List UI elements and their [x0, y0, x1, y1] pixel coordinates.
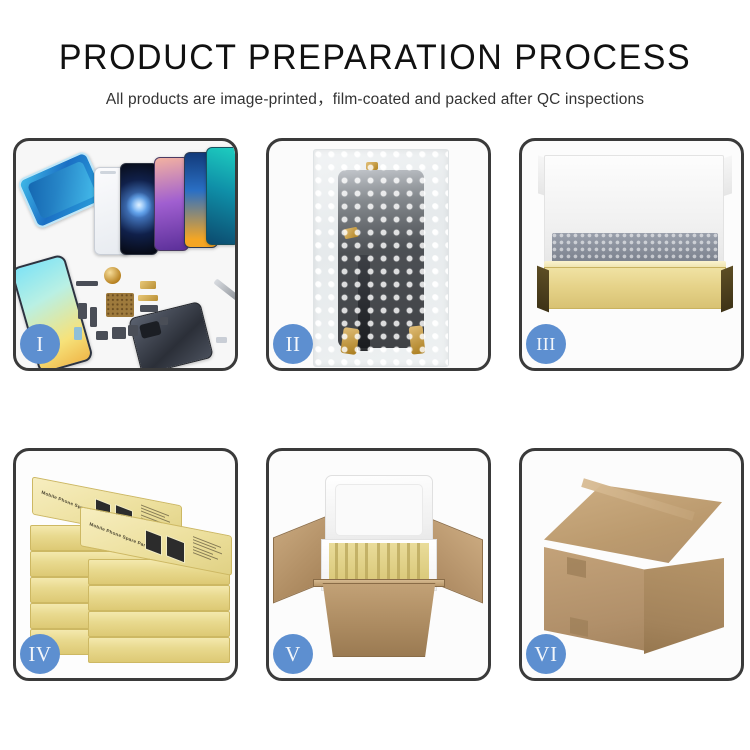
- header: PRODUCT PREPARATION PROCESS All products…: [0, 0, 750, 109]
- page-title: PRODUCT PREPARATION PROCESS: [11, 38, 739, 78]
- yellow-box-tray: [544, 267, 726, 309]
- bubble-texture: [314, 150, 448, 366]
- carton-front-face: [544, 547, 646, 651]
- vibrator-motor-part: [104, 267, 121, 284]
- small-part: [112, 327, 126, 339]
- box-label-text: Mobile Phone Spare Parts: [89, 521, 150, 549]
- box-spec-lines: [193, 536, 225, 568]
- small-part: [90, 307, 97, 327]
- small-part: [74, 327, 82, 340]
- small-part: [76, 281, 98, 286]
- box-window: [145, 529, 162, 556]
- stacked-box: [88, 585, 230, 611]
- page-subtitle: All products are image-printed，film-coat…: [0, 87, 750, 109]
- phone-display-4: [206, 147, 235, 245]
- step-badge-1: I: [20, 324, 60, 364]
- screwdriver-tool: [213, 278, 235, 301]
- connector-pad-part: [106, 293, 134, 317]
- step-badge-6: VI: [526, 634, 566, 674]
- step-panel-4: Mobile Phone Spare Parts Mobile Phone Sp…: [13, 448, 238, 681]
- box-window: [166, 535, 185, 563]
- flex-cable-part: [140, 281, 156, 289]
- carton-side-face: [644, 558, 724, 654]
- stacked-box: [88, 637, 230, 663]
- product-preparation-infographic: PRODUCT PREPARATION PROCESS All products…: [0, 0, 750, 750]
- step-badge-5: V: [273, 634, 313, 674]
- small-part: [96, 331, 108, 340]
- step-badge-2: II: [273, 324, 313, 364]
- process-steps-grid: I II: [13, 138, 745, 681]
- flex-cable-part: [138, 295, 158, 301]
- bubble-wrap-bag: [313, 149, 449, 367]
- step-panel-1: I: [13, 138, 238, 371]
- small-part: [160, 317, 168, 325]
- phone-display-1: [120, 163, 158, 255]
- step-panel-3: III: [519, 138, 744, 371]
- step-panel-5: V: [266, 448, 491, 681]
- screw-part: [216, 337, 227, 343]
- step-badge-4: IV: [20, 634, 60, 674]
- step-badge-3: III: [526, 324, 566, 364]
- small-part: [128, 325, 138, 336]
- step-panel-2: II: [266, 138, 491, 371]
- foam-insert-lid: [325, 475, 433, 547]
- step-panel-6: VI: [519, 448, 744, 681]
- stacked-box: [88, 611, 230, 637]
- small-part: [140, 305, 158, 312]
- small-part: [78, 303, 87, 319]
- carton-body: [315, 583, 443, 657]
- inner-boxes-in-carton: [329, 543, 429, 583]
